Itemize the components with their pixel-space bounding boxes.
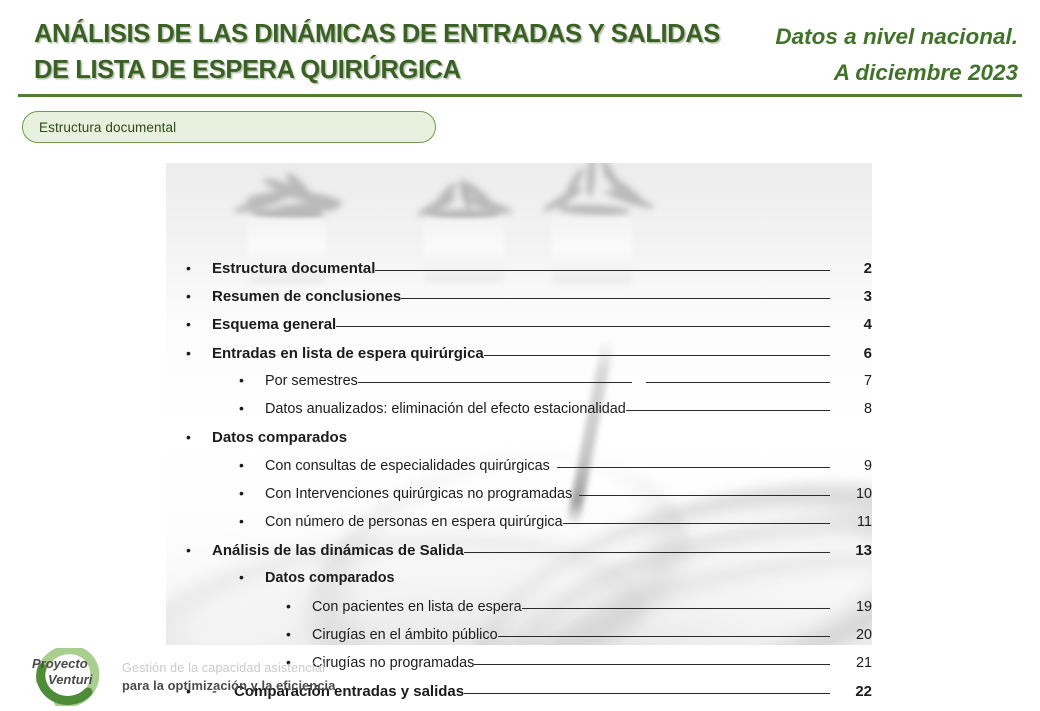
toc-entry-label: Por semestres bbox=[265, 373, 358, 389]
toc-entry-label: Datos comparados bbox=[265, 570, 395, 586]
toc-entry[interactable]: •Entradas en lista de espera quirúrgica6 bbox=[166, 343, 872, 371]
toc-leader-line bbox=[484, 343, 830, 358]
header-divider bbox=[18, 94, 1022, 97]
bullet-icon: • bbox=[286, 599, 312, 613]
toc-page-number: 6 bbox=[830, 345, 872, 362]
toc-entry-label: Entradas en lista de espera quirúrgica bbox=[212, 345, 484, 362]
toc-leader-line bbox=[474, 653, 830, 667]
slide-header: ANÁLISIS DE LAS DINÁMICAS DE ENTRADAS Y … bbox=[0, 0, 1040, 96]
toc-page-number: 3 bbox=[830, 288, 872, 305]
section-pill-estructura-documental[interactable]: Estructura documental bbox=[22, 111, 436, 143]
toc-entry-label: Datos comparados bbox=[212, 429, 347, 446]
toc-leader-line bbox=[522, 596, 830, 610]
toc-page-number: 8 bbox=[830, 401, 872, 417]
slide: ANÁLISIS DE LAS DINÁMICAS DE ENTRADAS Y … bbox=[0, 0, 1040, 711]
footer-logo: Proyecto Venturi Gestión de la capacidad… bbox=[28, 648, 335, 706]
venturi-wordmark: Proyecto Venturi bbox=[32, 656, 116, 688]
toc-leader-line bbox=[563, 512, 830, 526]
toc-page-number: 21 bbox=[830, 655, 872, 671]
bullet-icon: • bbox=[186, 430, 212, 444]
toc-leader-line bbox=[347, 427, 830, 442]
toc-entry-label: Con Intervenciones quirúrgicas no progra… bbox=[265, 486, 572, 502]
toc-leader-line bbox=[358, 371, 830, 385]
bullet-icon: • bbox=[286, 627, 312, 641]
toc-entry[interactable]: •Datos anualizados: eliminación del efec… bbox=[166, 399, 872, 427]
bullet-icon: • bbox=[239, 458, 265, 472]
toc-entry-label: Con pacientes en lista de espera bbox=[312, 599, 522, 615]
page-subtitle: Datos a nivel nacional. A diciembre 2023 bbox=[688, 19, 1018, 92]
logo-tagline-line-1: Gestión de la capacidad asistencial bbox=[122, 660, 335, 677]
toc-entry-label: Análisis de las dinámicas de Salida bbox=[212, 542, 464, 559]
toc-entry[interactable]: •Datos comparados bbox=[166, 568, 872, 596]
logo-word-venturi: Venturi bbox=[32, 672, 116, 688]
bullet-icon: • bbox=[239, 570, 265, 584]
bullet-icon: • bbox=[186, 346, 212, 360]
toc-page-number: 7 bbox=[830, 373, 872, 389]
toc-entry-label: Resumen de conclusiones bbox=[212, 288, 401, 305]
bullet-icon: • bbox=[186, 543, 212, 557]
toc-leader-line bbox=[557, 455, 830, 469]
venturi-swoosh-icon: Proyecto Venturi bbox=[28, 648, 114, 706]
toc-leader-line bbox=[579, 484, 830, 498]
page-subtitle-line-1: Datos a nivel nacional. bbox=[688, 19, 1018, 55]
toc-page-number: 22 bbox=[830, 683, 872, 700]
bullet-icon: • bbox=[239, 514, 265, 528]
toc-page-number: 20 bbox=[830, 627, 872, 643]
toc-entry-label: Con consultas de especialidades quirúrgi… bbox=[265, 458, 550, 474]
logo-tagline: Gestión de la capacidad asistencial para… bbox=[122, 660, 335, 694]
toc-leader-line bbox=[401, 286, 830, 301]
toc-entry-label: Esquema general bbox=[212, 316, 336, 333]
logo-word-proyecto: Proyecto bbox=[32, 656, 88, 671]
toc-page-number: 2 bbox=[830, 260, 872, 277]
bullet-icon: • bbox=[239, 486, 265, 500]
toc-leader-line bbox=[464, 681, 830, 696]
toc-entry-label: Cirugías en el ámbito público bbox=[312, 627, 498, 643]
toc-leader-line bbox=[375, 258, 830, 273]
toc-page-number: 19 bbox=[830, 599, 872, 615]
bullet-icon: • bbox=[186, 289, 212, 303]
page-title-line-1: ANÁLISIS DE LAS DINÁMICAS DE ENTRADAS Y … bbox=[34, 16, 724, 52]
toc-page-number: 4 bbox=[830, 316, 872, 333]
toc-leader-line bbox=[626, 399, 830, 413]
toc-leader-line bbox=[464, 540, 830, 555]
toc-entry[interactable]: •Esquema general4 bbox=[166, 314, 872, 342]
toc-entry-label: Datos anualizados: eliminación del efect… bbox=[265, 401, 626, 417]
toc-page-number: 10 bbox=[830, 486, 872, 502]
toc-entry[interactable]: •Con consultas de especialidades quirúrg… bbox=[166, 455, 872, 483]
toc-entry[interactable]: •Datos comparados bbox=[166, 427, 872, 455]
bullet-icon: • bbox=[186, 261, 212, 275]
toc-entry[interactable]: •Con Intervenciones quirúrgicas no progr… bbox=[166, 484, 872, 512]
toc-entry[interactable]: •Resumen de conclusiones3 bbox=[166, 286, 872, 314]
bullet-icon: • bbox=[239, 401, 265, 415]
toc-entry[interactable]: •Estructura documental2 bbox=[166, 258, 872, 286]
toc-leader-line bbox=[395, 568, 830, 582]
toc-page-number: 11 bbox=[830, 514, 872, 530]
toc-entry[interactable]: •Con pacientes en lista de espera19 bbox=[166, 596, 872, 624]
page-subtitle-line-2: A diciembre 2023 bbox=[688, 55, 1018, 91]
page-title-line-2: DE LISTA DE ESPERA QUIRÚRGICA bbox=[34, 52, 724, 88]
bullet-icon: • bbox=[239, 373, 265, 387]
toc-page-number: 9 bbox=[830, 458, 872, 474]
page-title: ANÁLISIS DE LAS DINÁMICAS DE ENTRADAS Y … bbox=[34, 16, 724, 88]
toc-entry[interactable]: •Análisis de las dinámicas de Salida13 bbox=[166, 540, 872, 568]
logo-tagline-line-2: para la optimización y la eficiencia bbox=[122, 677, 335, 694]
toc-leader-line bbox=[498, 624, 830, 638]
toc-entry[interactable]: •Con número de personas en espera quirúr… bbox=[166, 512, 872, 540]
table-of-contents: •Estructura documental2•Resumen de concl… bbox=[166, 258, 872, 709]
toc-page-number: 13 bbox=[830, 542, 872, 559]
toc-entry-label: Con número de personas en espera quirúrg… bbox=[265, 514, 563, 530]
bullet-icon: • bbox=[186, 317, 212, 331]
toc-entry-label: Estructura documental bbox=[212, 260, 375, 277]
toc-entry-label: Cirugías no programadas bbox=[312, 655, 474, 671]
toc-entry[interactable]: •Por semestres7 bbox=[166, 371, 872, 399]
section-pill-label: Estructura documental bbox=[39, 120, 176, 135]
toc-leader-line bbox=[336, 314, 830, 329]
